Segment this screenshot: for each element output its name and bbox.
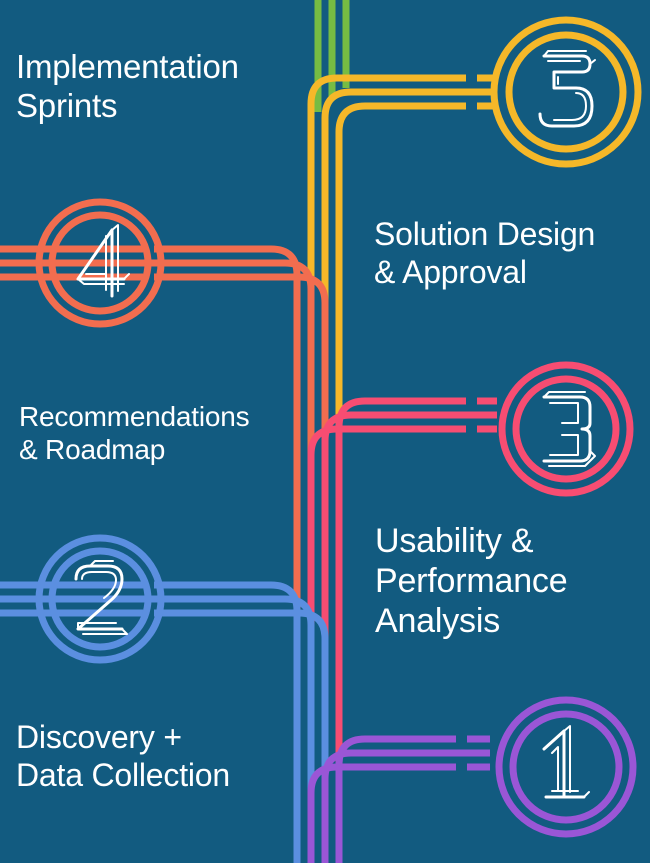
badge-numeral-5 (540, 51, 595, 126)
badge-step-5[interactable] (494, 20, 638, 164)
infographic-canvas: .num { fill:none; stroke:#ffffff; stroke… (0, 0, 650, 863)
badge-step-3[interactable] (502, 365, 630, 493)
step-label-2: Usability & Performance Analysis (375, 521, 567, 641)
step-label-3: Recommendations & Roadmap (19, 400, 249, 466)
step-label-1: Discovery + Data Collection (16, 719, 230, 795)
step-label-4: Solution Design & Approval (374, 216, 595, 292)
step-label-5: Implementation Sprints (16, 48, 239, 126)
badge-numeral-1 (544, 726, 589, 797)
track-step-1 (311, 739, 490, 863)
badge-step-1[interactable] (499, 700, 633, 834)
badge-numeral-3 (544, 392, 595, 466)
